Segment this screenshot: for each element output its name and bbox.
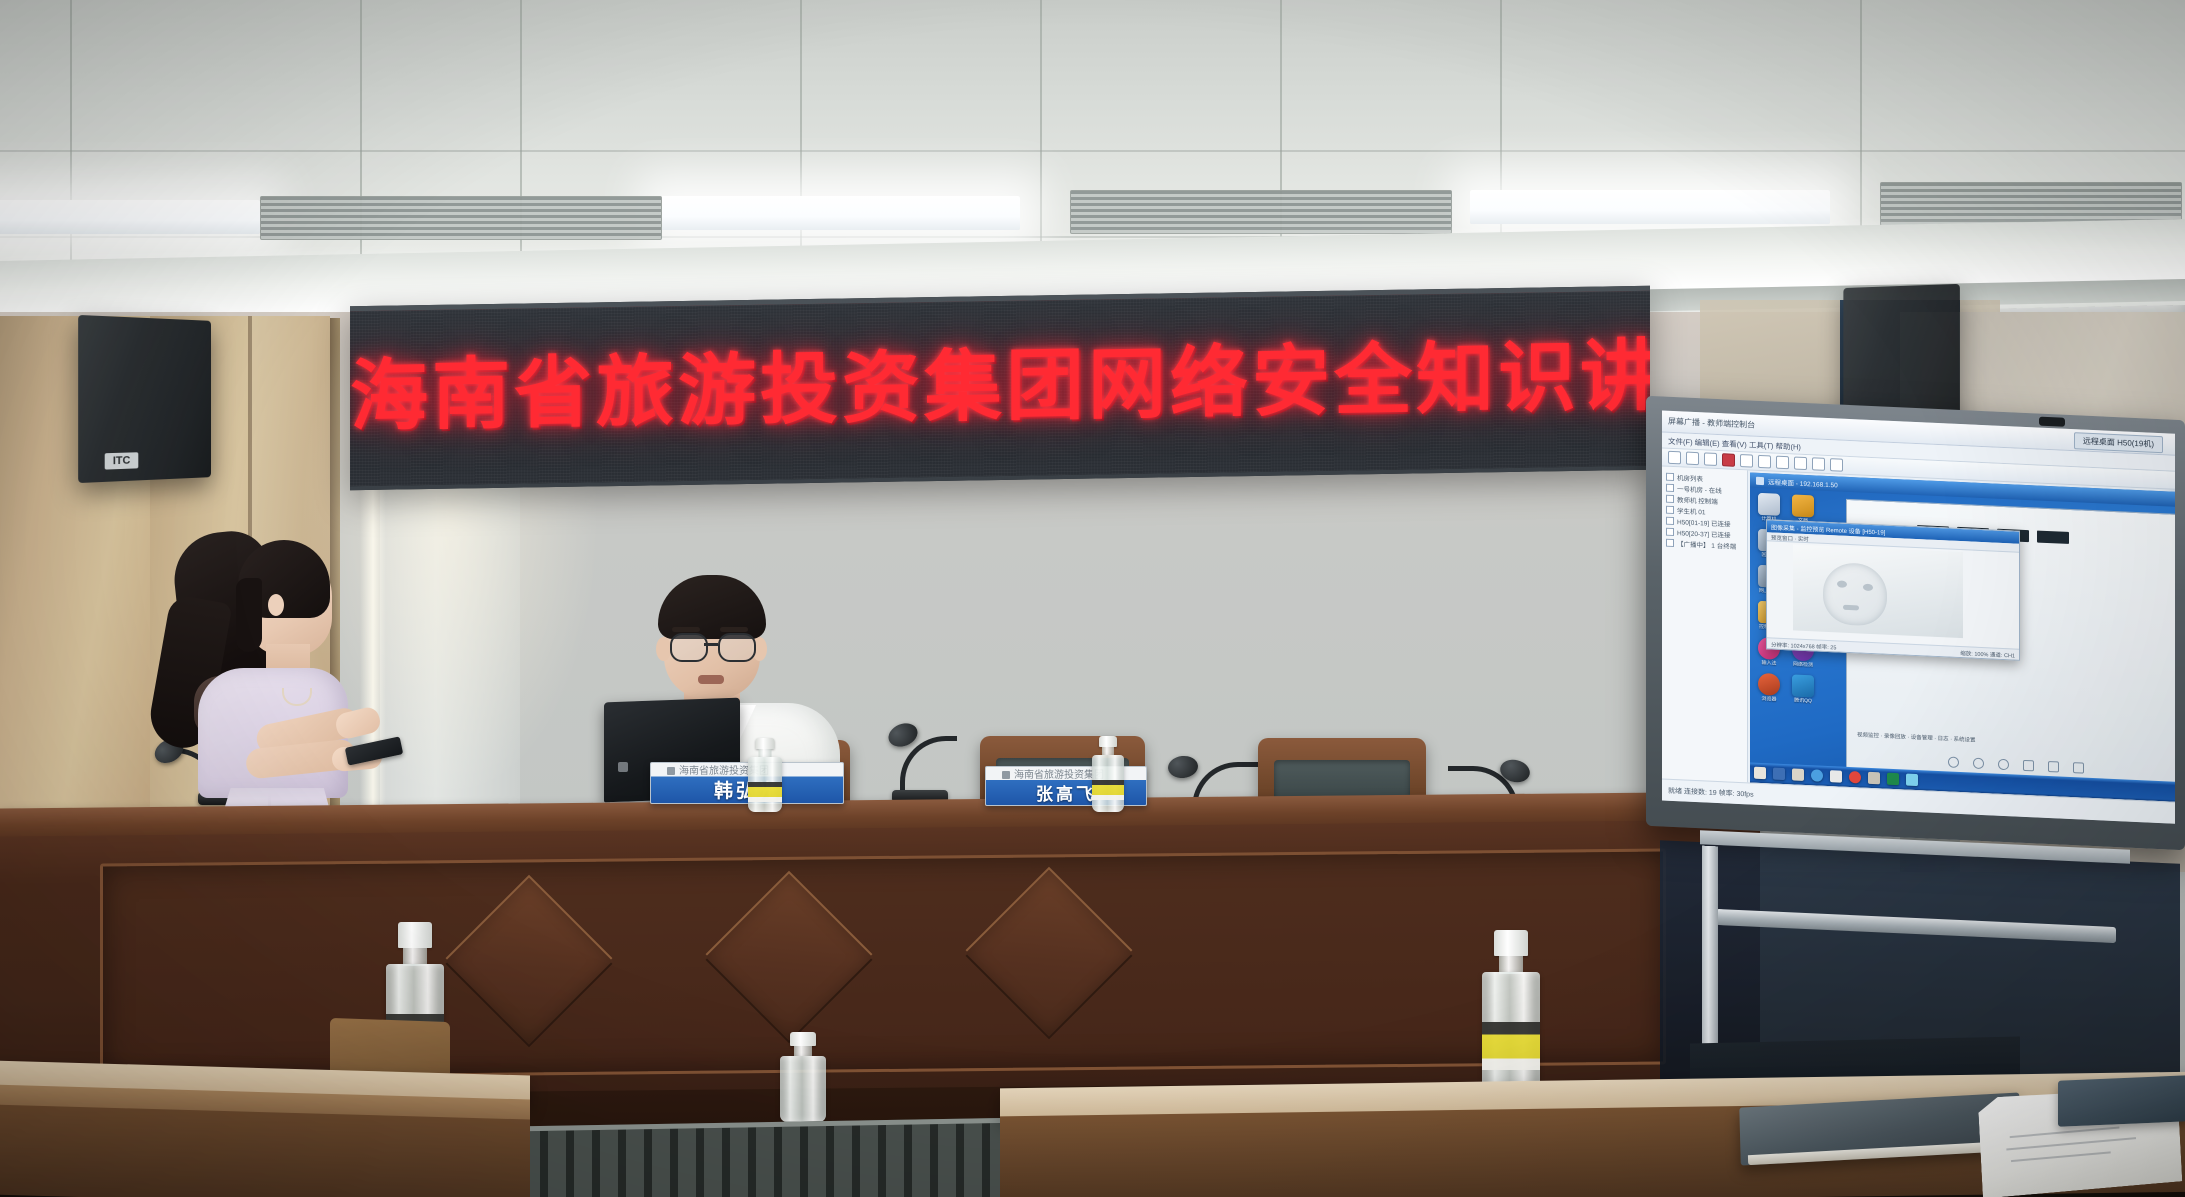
tablet-device[interactable]	[2058, 1075, 2185, 1126]
ceiling-vent	[1070, 190, 1452, 234]
save-icon[interactable]	[1704, 452, 1717, 466]
laptop-logo	[618, 762, 628, 772]
taskbar-icon[interactable]	[1906, 774, 1918, 787]
conference-room-photo: ITC 海南省旅游投资集团网络安全知识讲座培训	[0, 0, 2185, 1197]
taskbar-icon[interactable]	[1887, 773, 1899, 786]
start-button-icon[interactable]	[1754, 767, 1766, 780]
banner-text: 海南省旅游投资集团网络安全知识讲座培训	[350, 335, 1650, 439]
remote-desktop-view[interactable]: 远程桌面 - 192.168.1.50 计算机 回收站 网上邻居	[1750, 472, 2175, 801]
eyebrow-right	[720, 627, 748, 632]
play-icon[interactable]	[1973, 757, 1984, 768]
new-icon[interactable]	[1668, 451, 1681, 465]
eye-right	[1863, 584, 1873, 591]
taskbar-icon[interactable]	[1792, 768, 1804, 781]
help-icon[interactable]	[1830, 458, 1843, 472]
led-banner: 海南省旅游投资集团网络安全知识讲座培训	[350, 286, 1650, 490]
window-tabs[interactable]: 视频监控 · 录像回放 · 设备管理 · 日志 · 系统设置	[1857, 728, 2174, 754]
eye-left	[1837, 580, 1847, 587]
pin-icon[interactable]	[1756, 476, 1764, 484]
floor-vent-grate	[470, 1117, 1070, 1197]
taskbar-icon[interactable]	[1830, 770, 1842, 783]
nameplate-name: 韩弘光	[651, 777, 843, 803]
water-bottle-desk-2	[1092, 736, 1124, 812]
glasses-bridge	[704, 643, 718, 646]
rdp-connection-label: 远程桌面 - 192.168.1.50	[1768, 476, 1838, 489]
mouth	[698, 675, 724, 684]
forward-icon[interactable]	[1998, 758, 2009, 769]
ceiling-light	[1470, 190, 1830, 224]
desktop-icon[interactable]: 腾讯QQ	[1790, 674, 1816, 704]
ceiling-vent	[260, 196, 662, 240]
broadcast-icon[interactable]	[1758, 455, 1771, 469]
monitor-icon[interactable]	[1776, 456, 1789, 470]
preview-status-right: 缩放: 100% 通道: CH1	[1960, 649, 2015, 659]
display-screen[interactable]: 屏幕广播 - 教师端控制台 文件(F) 编辑(E) 查看(V) 工具(T) 帮助…	[1662, 410, 2175, 823]
preview-status-left: 分辨率: 1024x768 帧率: 25	[1771, 640, 1836, 651]
speaker-brand-logo: ITC	[105, 452, 139, 469]
wall-speaker-left: ITC	[78, 315, 211, 483]
taskbar-icon[interactable]	[1811, 769, 1823, 782]
ear-left	[656, 637, 671, 661]
face-shape	[1823, 562, 1887, 627]
browser-icon	[1758, 673, 1780, 696]
taskbar-icon[interactable]	[1868, 772, 1880, 785]
preview-image	[1793, 544, 1963, 638]
refresh-icon[interactable]	[1740, 454, 1753, 468]
prev-icon[interactable]	[2023, 759, 2034, 770]
next-icon[interactable]	[2073, 762, 2084, 773]
preview-window[interactable]: 图像采集 - 监控预览 Remote 设备 [H50-19] 预览窗口 · 实时…	[1766, 519, 2020, 661]
computer-icon	[1758, 493, 1780, 516]
mouth-shape	[1843, 605, 1859, 611]
pause-icon[interactable]	[1722, 453, 1735, 467]
ceiling-light	[660, 196, 1020, 230]
open-icon[interactable]	[1686, 452, 1699, 466]
ceiling-light	[0, 200, 260, 234]
taskbar-icon[interactable]	[1773, 768, 1785, 781]
taskbar-icon[interactable]	[1849, 771, 1861, 784]
app-sidebar[interactable]: 机房列表 一号机房 - 在线 教师机 控制端 学生机 01 H50[01-19]…	[1662, 466, 1748, 782]
water-bottle-desk-1	[748, 738, 782, 812]
glasses-lens-right	[718, 633, 756, 662]
stop-icon[interactable]	[2048, 760, 2059, 771]
sidebar-item[interactable]: 【广播中】 1 台终端	[1666, 539, 1743, 553]
glasses-lens-left	[670, 633, 708, 662]
eyebrow-left	[672, 627, 700, 632]
microphone-center-left	[890, 722, 986, 804]
display-bezel: 屏幕广播 - 教师端控制台 文件(F) 编辑(E) 查看(V) 工具(T) 帮助…	[1646, 396, 2185, 850]
ear	[268, 594, 284, 616]
nameplate-org-line: 海南省旅游投资集团	[651, 763, 843, 777]
lock-icon[interactable]	[1794, 456, 1807, 470]
thumbnail[interactable]	[2037, 531, 2069, 544]
rewind-icon[interactable]	[1948, 756, 1959, 767]
webcam-icon	[2039, 417, 2065, 427]
settings-icon[interactable]	[1812, 457, 1825, 471]
presentation-display[interactable]: 屏幕广播 - 教师端控制台 文件(F) 编辑(E) 查看(V) 工具(T) 帮助…	[1646, 396, 2185, 850]
hair-side	[236, 578, 262, 652]
foreground-table-left-body	[0, 1104, 530, 1197]
ime-icon	[1792, 674, 1814, 697]
desktop-icon[interactable]: 浏览器	[1756, 673, 1782, 703]
folder-icon	[1792, 494, 1814, 517]
water-bottle-behind-table	[780, 1032, 826, 1122]
nameplate-han: 海南省旅游投资集团 韩弘光	[650, 762, 844, 804]
